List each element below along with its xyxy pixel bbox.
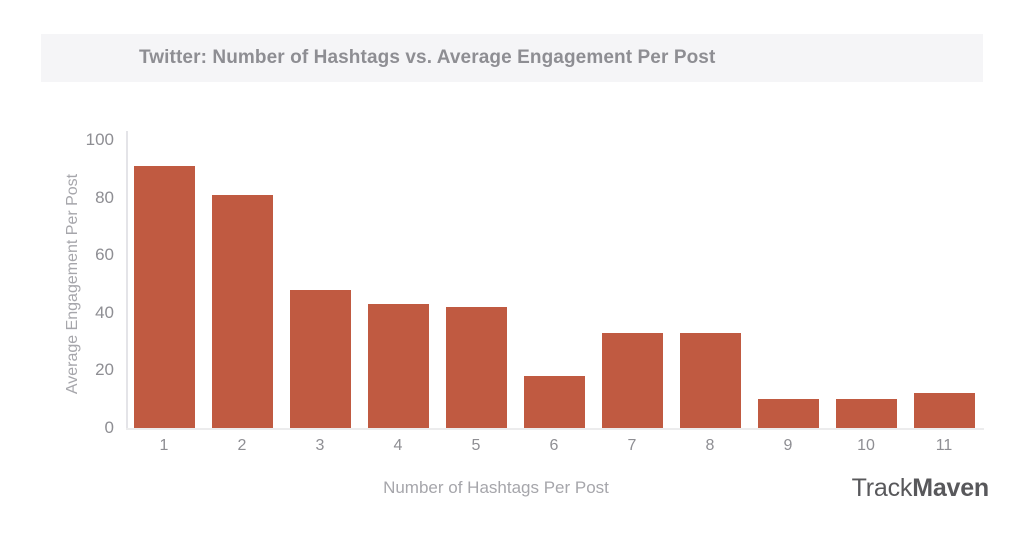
x-axis-tick-label: 11 (914, 437, 975, 455)
bar (914, 393, 975, 428)
y-axis-tick-label: 20 (68, 360, 114, 380)
x-axis-tick-label: 6 (524, 437, 585, 455)
bar (836, 399, 897, 428)
y-axis-tick-label: 60 (68, 245, 114, 265)
x-axis-tick-label: 3 (290, 437, 351, 455)
bar (758, 399, 819, 428)
x-axis-tick-label: 10 (836, 437, 897, 455)
x-axis-tick-label: 1 (134, 437, 195, 455)
x-axis-tick-label: 4 (368, 437, 429, 455)
bar (524, 376, 585, 428)
chart-plot-area: Average Engagement Per Post 020406080100… (0, 0, 1024, 537)
y-axis-tick-label: 100 (68, 130, 114, 150)
y-axis-tick-label: 0 (68, 418, 114, 438)
x-axis-tick-label: 9 (758, 437, 819, 455)
brand-name-light: Track (852, 474, 913, 502)
x-axis-tick-label: 2 (212, 437, 273, 455)
y-axis-tick-label: 80 (68, 188, 114, 208)
x-axis-title: Number of Hashtags Per Post (126, 478, 866, 498)
bar (446, 307, 507, 428)
x-axis-tick-label: 7 (602, 437, 663, 455)
bar (368, 304, 429, 428)
brand-name-bold: Maven (912, 474, 989, 502)
x-axis-tick-label: 8 (680, 437, 741, 455)
x-axis-tick-label: 5 (446, 437, 507, 455)
y-axis-tick-labels: 020406080100 (68, 0, 114, 537)
x-axis-tick-labels: 1234567891011 (126, 437, 984, 461)
trackmaven-logo: TrackMaven (852, 474, 989, 503)
bar (602, 333, 663, 428)
bar (134, 166, 195, 428)
y-axis-tick-label: 40 (68, 303, 114, 323)
bar (212, 195, 273, 428)
bar (290, 290, 351, 428)
bar (680, 333, 741, 428)
